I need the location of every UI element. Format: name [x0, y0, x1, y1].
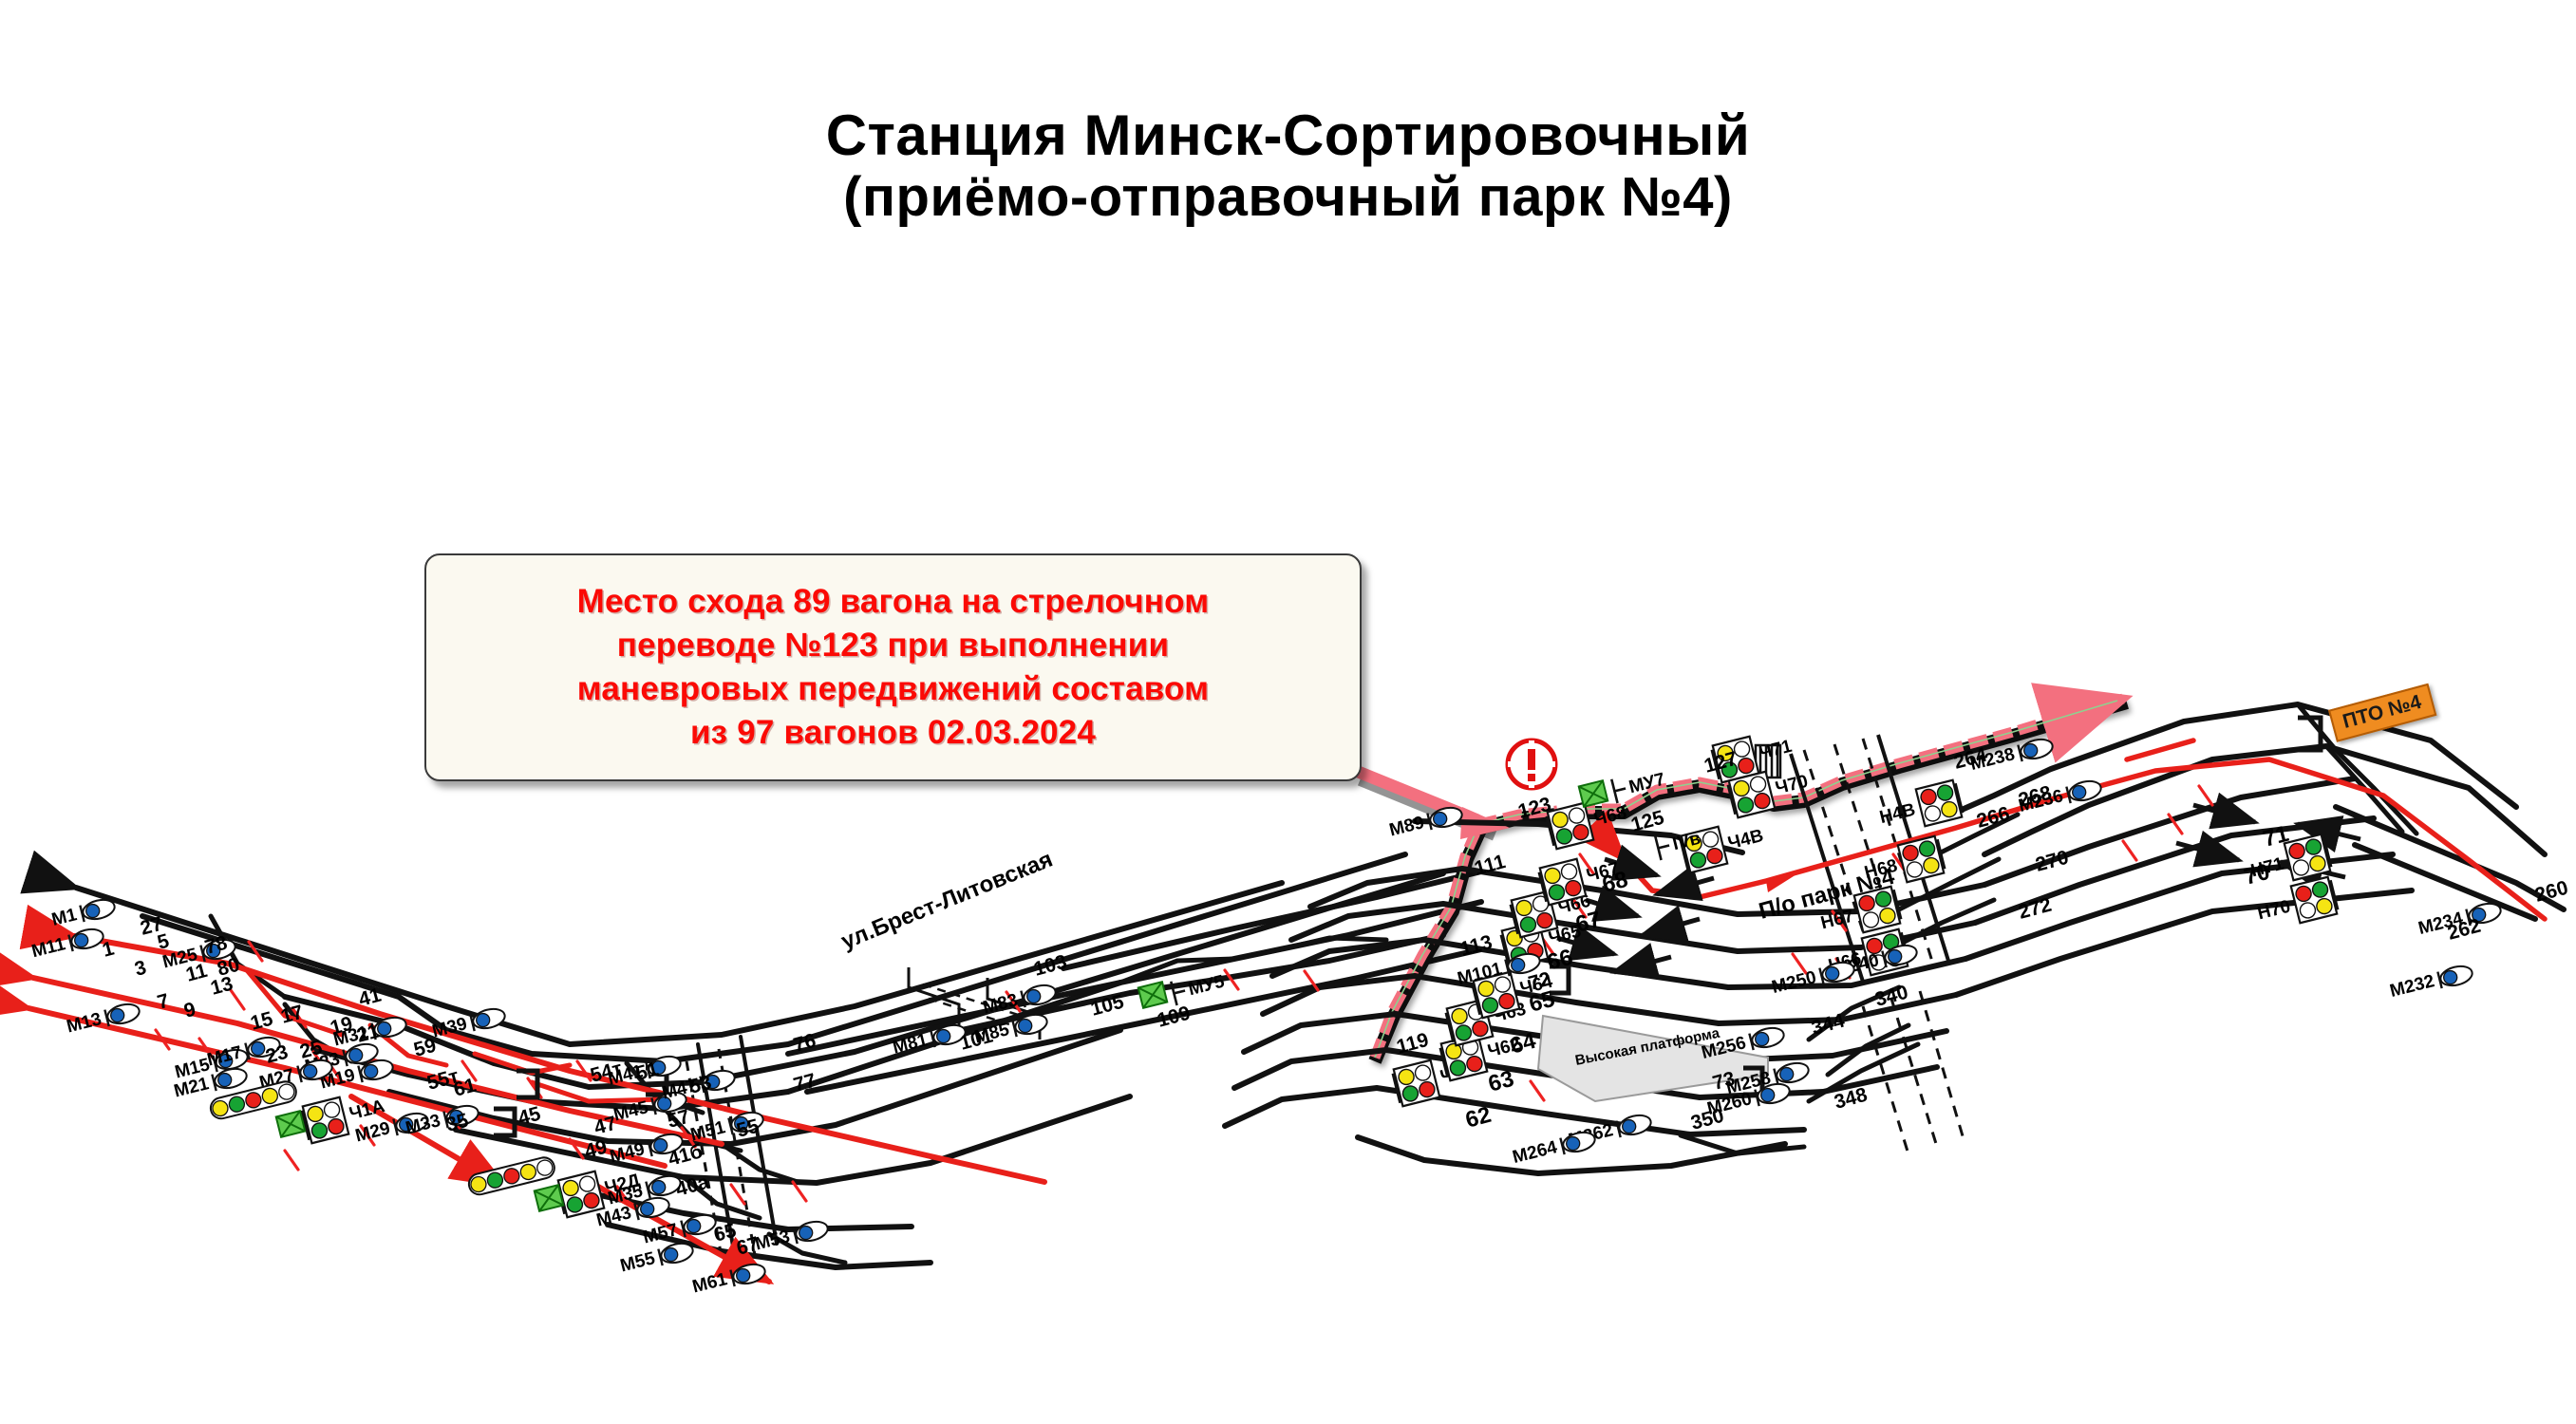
main-signal-label: МУ5 [1187, 971, 1228, 1000]
callout-line: переводе №123 при выполнении [577, 624, 1210, 667]
map-text-label: 344 [1809, 1009, 1847, 1039]
shunting-signal-label: М61 [690, 1269, 729, 1297]
shunting-signal-label: М89 [1387, 813, 1426, 840]
shunting-signal-label: М1 [49, 905, 79, 930]
map-text-label: ул.Брест-Литовская [837, 847, 1056, 955]
shunting-signal: М250 [1770, 958, 1856, 998]
map-text-label: 272 [2016, 894, 2054, 924]
route-flag-icon [535, 1185, 564, 1211]
map-text-label: 350 [1688, 1105, 1726, 1134]
shunting-signal: М264 [1511, 1128, 1597, 1168]
callout-line: маневровых передвижений составом [577, 667, 1210, 711]
map-text-label: 105 [1088, 990, 1126, 1020]
shunting-signal: М1 [49, 895, 116, 930]
map-text-label: 113 [1457, 931, 1495, 961]
map-text-label: 3 [132, 957, 148, 981]
main-signal-label: Ч4В [1726, 826, 1766, 853]
map-text-label: 266 [1974, 803, 2012, 833]
shunting-signal-label: М29 [353, 1118, 392, 1146]
map-text-label: 80 [215, 954, 242, 981]
route-flag-icon [1138, 982, 1168, 1008]
main-signal-label: Ч71 [1758, 737, 1795, 764]
station-track-diagram: Станция Минск-Сортировочный (приёмо-отпр… [0, 0, 2576, 1424]
map-text-label: 23 [263, 1041, 291, 1068]
shunting-signal: М61 [690, 1260, 767, 1297]
shunting-signal: М11 [29, 925, 105, 962]
route-flag-icon [1579, 780, 1608, 807]
map-text-label: 270 [2033, 847, 2071, 876]
callout-line: Место схода 89 вагона на стрелочном [577, 580, 1210, 624]
shunting-signal-label: М232 [2388, 971, 2436, 1002]
map-text-label: 7 [155, 990, 171, 1014]
route-flag-icon [276, 1111, 306, 1137]
shunting-signal-label: М264 [1511, 1137, 1560, 1168]
map-text-label: 11 [183, 960, 210, 986]
incident-callout-text: Место схода 89 вагона на стрелочномперев… [577, 580, 1210, 755]
shunting-signal-label: М250 [1770, 967, 1818, 998]
map-text-label: 260 [2532, 877, 2570, 907]
shunting-signal-label: М13 [65, 1009, 103, 1037]
shunting-signal-label: М11 [29, 934, 67, 962]
map-text-label: 9 [181, 999, 197, 1022]
map-text-label: 109 [1155, 1002, 1193, 1032]
incident-callout: Место схода 89 вагона на стрелочномперев… [424, 553, 1362, 781]
map-text-label: 67 [1573, 907, 1605, 938]
shunting-signal-label: М55 [618, 1248, 657, 1276]
incident-warning-icon [1503, 736, 1560, 793]
shunting-signal-label: М81 [891, 1030, 930, 1058]
main-signal-label: Н70 [2256, 897, 2293, 925]
callout-line: из 97 вагонов 02.03.2024 [577, 711, 1210, 755]
shunting-signal: М232 [2388, 962, 2474, 1002]
